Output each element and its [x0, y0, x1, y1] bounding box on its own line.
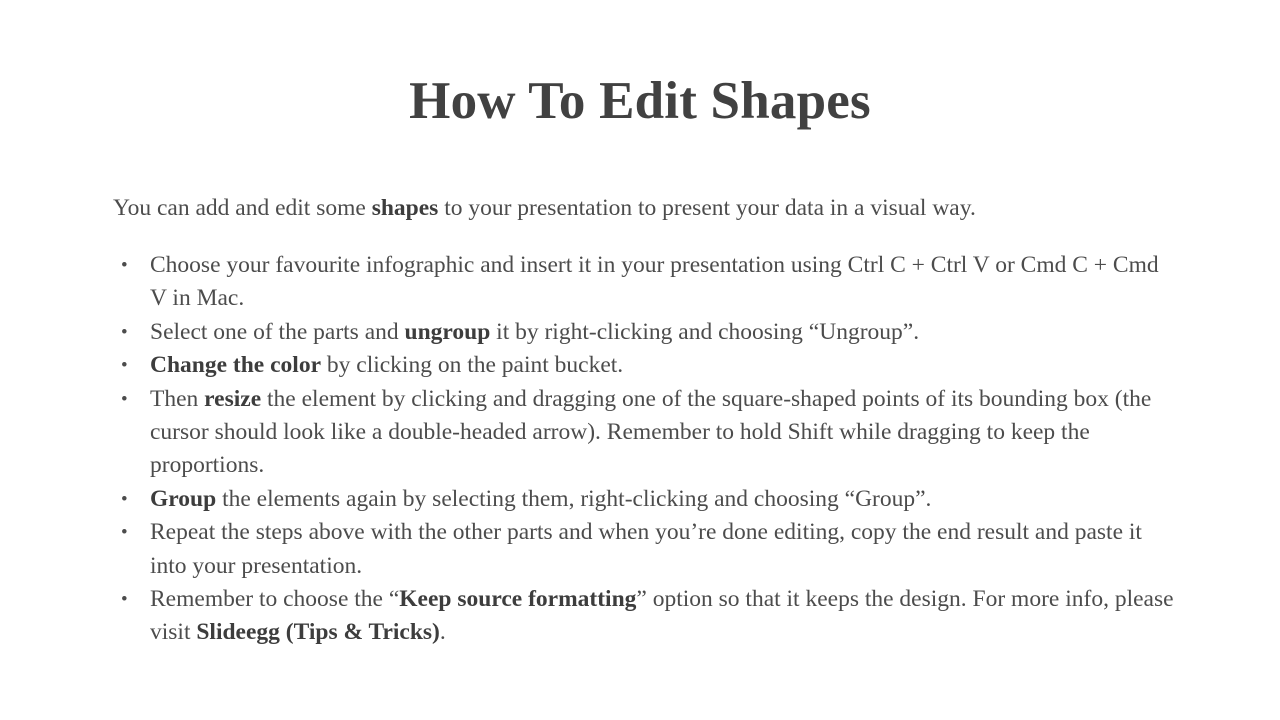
- bullet-span: Choose your favourite infographic and in…: [150, 252, 1159, 311]
- bullet-span: the element by clicking and dragging one…: [150, 386, 1151, 479]
- bullet-span: the elements again by selecting them, ri…: [216, 486, 931, 512]
- bullet-span: Remember to choose the “: [150, 586, 399, 612]
- bullet-text: Group the elements again by selecting th…: [150, 483, 1178, 516]
- bullet-point-icon: •: [121, 483, 128, 516]
- bullet-text: Change the color by clicking on the pain…: [150, 349, 1178, 382]
- bullet-resize: •Then resize the element by clicking and…: [113, 383, 1178, 483]
- bullet-point-icon: •: [121, 349, 128, 382]
- bullet-choose-infographic: •Choose your favourite infographic and i…: [113, 249, 1178, 316]
- bullet-emphasis: Slideegg (Tips & Tricks): [196, 619, 440, 645]
- bullet-text: Select one of the parts and ungroup it b…: [150, 316, 1178, 349]
- bullet-emphasis: Change the color: [150, 352, 321, 378]
- bullet-span: Then: [150, 386, 204, 412]
- bullet-keep-source-formatting: •Remember to choose the “Keep source for…: [113, 583, 1178, 650]
- bullet-emphasis: Group: [150, 486, 216, 512]
- bullet-text: Remember to choose the “Keep source form…: [150, 583, 1178, 650]
- bullet-point-icon: •: [121, 249, 128, 282]
- bullet-span: it by right-clicking and choosing “Ungro…: [490, 319, 919, 345]
- bullet-point-icon: •: [121, 383, 128, 416]
- bullet-point-icon: •: [121, 583, 128, 616]
- intro-text-after: to your presentation to present your dat…: [438, 195, 976, 221]
- bullet-repeat: •Repeat the steps above with the other p…: [113, 516, 1178, 583]
- bullet-change-color: •Change the color by clicking on the pai…: [113, 349, 1178, 382]
- bullet-span: Select one of the parts and: [150, 319, 405, 345]
- bullet-text: Choose your favourite infographic and in…: [150, 249, 1178, 316]
- bullet-emphasis: resize: [204, 386, 261, 412]
- bullet-group: •Group the elements again by selecting t…: [113, 483, 1178, 516]
- instruction-bullet-list: •Choose your favourite infographic and i…: [113, 249, 1178, 650]
- bullet-span: by clicking on the paint bucket.: [321, 352, 623, 378]
- bullet-span: Repeat the steps above with the other pa…: [150, 519, 1142, 578]
- intro-paragraph: You can add and edit some shapes to your…: [113, 192, 1173, 224]
- bullet-text: Repeat the steps above with the other pa…: [150, 516, 1178, 583]
- bullet-point-icon: •: [121, 316, 128, 349]
- bullet-emphasis: ungroup: [405, 319, 491, 345]
- intro-text-before: You can add and edit some: [113, 195, 372, 221]
- bullet-span: .: [440, 619, 446, 645]
- intro-keyword-shapes: shapes: [372, 195, 439, 221]
- bullet-ungroup: •Select one of the parts and ungroup it …: [113, 316, 1178, 349]
- slide-canvas: How To Edit Shapes You can add and edit …: [0, 0, 1280, 720]
- bullet-text: Then resize the element by clicking and …: [150, 383, 1178, 483]
- page-title: How To Edit Shapes: [0, 72, 1280, 131]
- bullet-point-icon: •: [121, 516, 128, 549]
- bullet-emphasis: Keep source formatting: [399, 586, 636, 612]
